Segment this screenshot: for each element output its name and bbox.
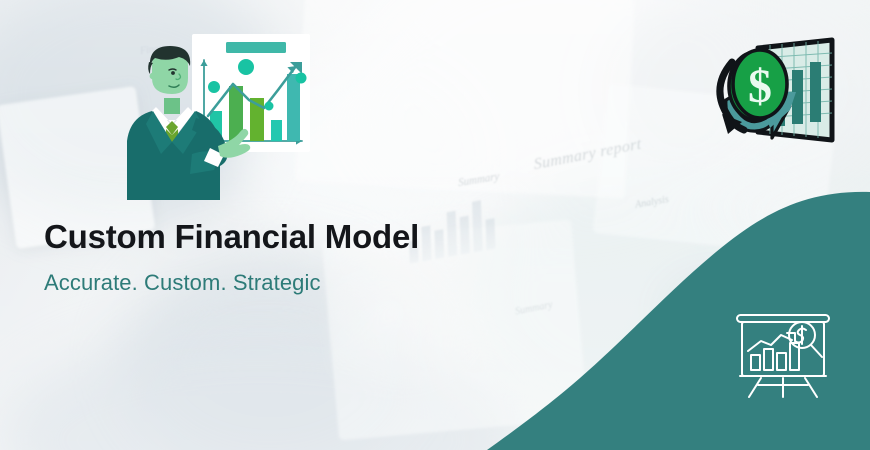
chart-dot xyxy=(265,102,274,111)
chart-dot xyxy=(208,81,220,93)
page-title: Custom Financial Model xyxy=(44,218,419,257)
magnifier-handle xyxy=(811,345,822,357)
board-top-rail xyxy=(737,315,829,322)
dollar-symbol: $ xyxy=(748,60,772,113)
presentation-board-magnifier-icon xyxy=(731,311,835,399)
board-leg xyxy=(805,378,817,397)
chart-bar xyxy=(271,120,282,141)
dollar-coin-growth-chart-icon: $ xyxy=(712,36,840,148)
businessman-presenting-chart-illustration xyxy=(112,28,317,200)
icon-bar xyxy=(777,353,786,370)
icon-bar xyxy=(751,355,760,370)
chart-dot xyxy=(238,59,254,75)
magnifier-dollar xyxy=(795,329,806,343)
chart-bar xyxy=(287,74,300,141)
icon-bar xyxy=(764,349,773,370)
headline-block: Custom Financial Model Accurate. Custom.… xyxy=(44,218,419,296)
dollar-coin: $ xyxy=(729,50,787,120)
banner-root: Finance Summary Summary report Analysis … xyxy=(0,0,870,450)
board-leg xyxy=(749,378,761,397)
screen-bar xyxy=(810,62,821,122)
board-screen xyxy=(742,322,824,376)
chart-dot xyxy=(296,73,307,84)
page-subtitle: Accurate. Custom. Strategic xyxy=(44,270,419,296)
